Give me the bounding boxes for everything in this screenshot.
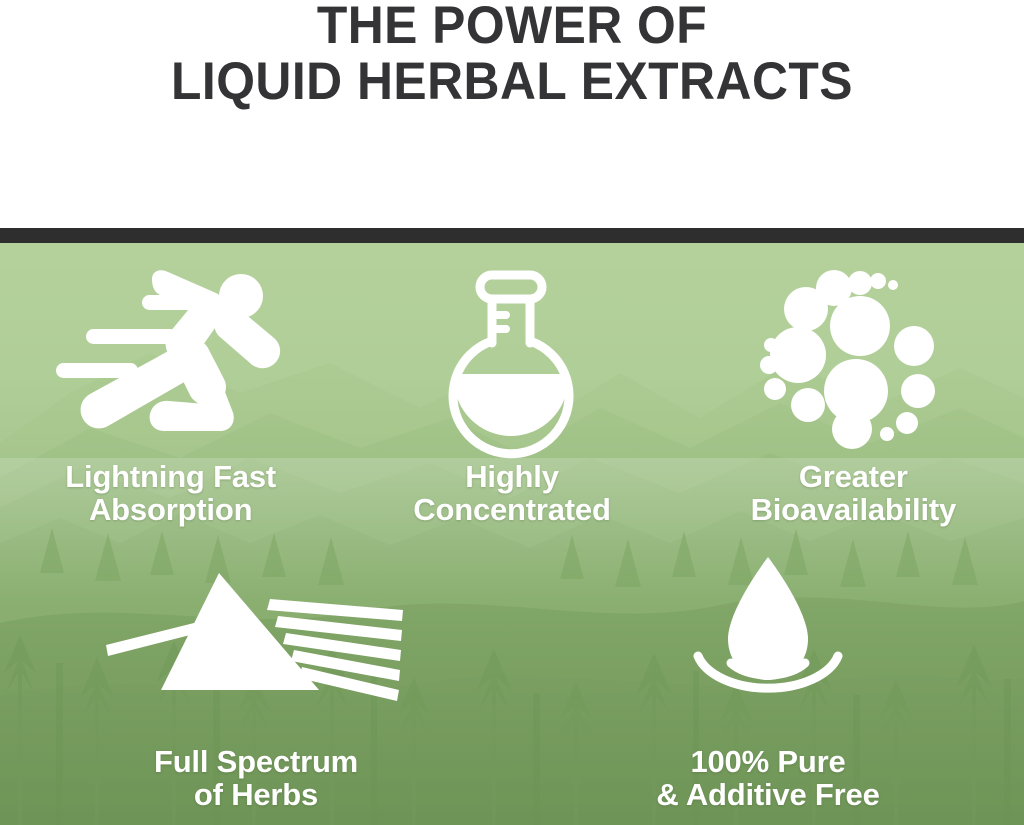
- benefit-full-spectrum-of-herbs: Full Spectrum of Herbs: [0, 535, 512, 825]
- benefit-lightning-fast-absorption: Lightning Fast Absorption: [0, 243, 341, 535]
- prism-icon: [106, 553, 406, 723]
- infographic-root: THE POWER OF LIQUID HERBAL EXTRACTS: [0, 0, 1024, 825]
- bubbles-icon: [768, 271, 938, 446]
- benefit-label-line-2: Absorption: [65, 493, 276, 526]
- benefit-highly-concentrated: Highly Concentrated: [341, 243, 682, 535]
- benefit-label-line-1: Greater: [751, 460, 956, 493]
- flask-icon: [444, 271, 579, 446]
- benefit-label: 100% Pure & Additive Free: [656, 745, 879, 811]
- benefits-row-bottom: Full Spectrum of Herbs: [0, 535, 1024, 825]
- benefit-label: Full Spectrum of Herbs: [154, 745, 358, 811]
- benefit-pure-additive-free: 100% Pure & Additive Free: [512, 535, 1024, 825]
- benefit-label: Lightning Fast Absorption: [65, 460, 276, 526]
- benefit-label-line-2: Concentrated: [413, 493, 610, 526]
- benefit-label-line-2: of Herbs: [154, 778, 358, 811]
- benefit-label-line-1: 100% Pure: [656, 745, 879, 778]
- benefit-label-line-1: Highly: [413, 460, 610, 493]
- benefit-label-line-2: Bioavailability: [751, 493, 956, 526]
- header: THE POWER OF LIQUID HERBAL EXTRACTS: [0, 0, 1024, 228]
- benefit-label-line-1: Lightning Fast: [65, 460, 276, 493]
- benefit-label: Greater Bioavailability: [751, 460, 956, 526]
- benefit-label: Highly Concentrated: [413, 460, 610, 526]
- benefit-label-line-2: & Additive Free: [656, 778, 879, 811]
- page-title: THE POWER OF LIQUID HERBAL EXTRACTS: [0, 0, 1024, 110]
- divider-bar: [0, 228, 1024, 243]
- title-line-2: LIQUID HERBAL EXTRACTS: [31, 54, 994, 110]
- benefits-panel: Lightning Fast Absorption: [0, 243, 1024, 825]
- benefits-row-top: Lightning Fast Absorption: [0, 243, 1024, 535]
- benefit-label-line-1: Full Spectrum: [154, 745, 358, 778]
- running-person-icon: [56, 271, 286, 446]
- benefit-greater-bioavailability: Greater Bioavailability: [683, 243, 1024, 535]
- title-line-1: THE POWER OF: [31, 0, 994, 54]
- water-droplet-icon: [673, 553, 863, 723]
